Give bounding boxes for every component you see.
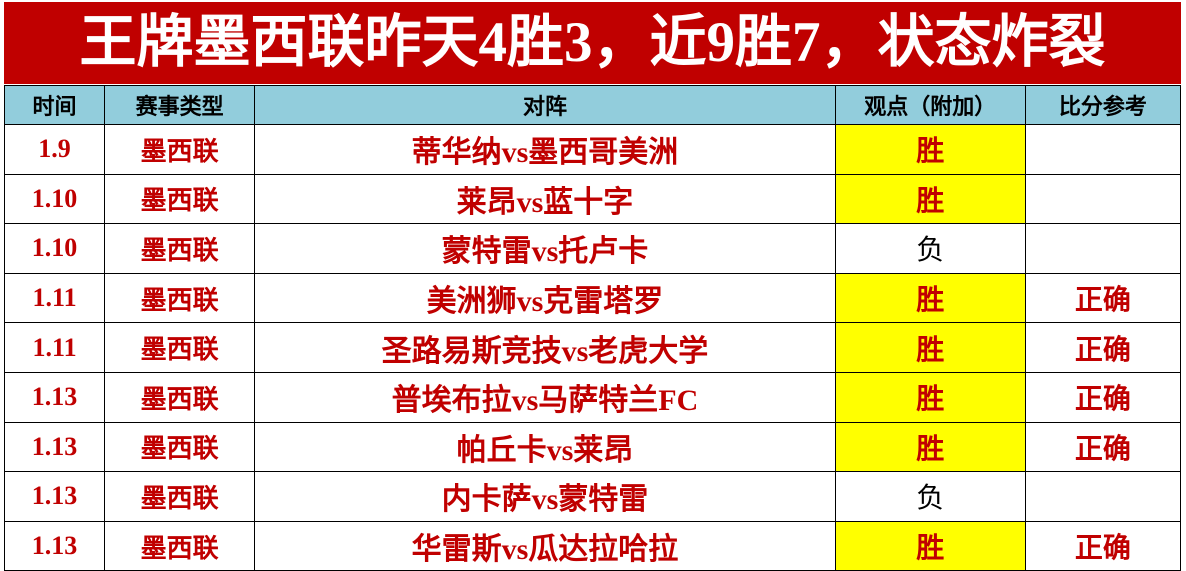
- cell-match: 帕丘卡vs莱昂: [255, 422, 835, 472]
- table-row: 1.10墨西联莱昂vs蓝十字胜: [5, 174, 1181, 224]
- column-header-view: 观点（附加）: [835, 86, 1025, 125]
- column-header-time: 时间: [5, 86, 105, 125]
- cell-league: 墨西联: [105, 472, 255, 522]
- column-header-score: 比分参考: [1025, 86, 1180, 125]
- cell-view: 胜: [835, 521, 1025, 571]
- cell-score: [1025, 224, 1180, 274]
- cell-view: 胜: [835, 125, 1025, 175]
- cell-time: 1.11: [5, 323, 105, 373]
- cell-league: 墨西联: [105, 174, 255, 224]
- cell-time: 1.13: [5, 422, 105, 472]
- table-row: 1.13墨西联帕丘卡vs莱昂胜正确: [5, 422, 1181, 472]
- cell-view: 胜: [835, 273, 1025, 323]
- cell-score: 正确: [1025, 323, 1180, 373]
- predictions-table: 时间 赛事类型 对阵 观点（附加） 比分参考 1.9墨西联蒂华纳vs墨西哥美洲胜…: [4, 85, 1181, 571]
- cell-view: 负: [835, 472, 1025, 522]
- table-row: 1.11墨西联圣路易斯竞技vs老虎大学胜正确: [5, 323, 1181, 373]
- cell-league: 墨西联: [105, 224, 255, 274]
- cell-match: 蒙特雷vs托卢卡: [255, 224, 835, 274]
- cell-match: 美洲狮vs克雷塔罗: [255, 273, 835, 323]
- cell-view: 胜: [835, 372, 1025, 422]
- cell-match: 莱昂vs蓝十字: [255, 174, 835, 224]
- cell-league: 墨西联: [105, 125, 255, 175]
- cell-time: 1.13: [5, 372, 105, 422]
- cell-match: 普埃布拉vs马萨特兰FC: [255, 372, 835, 422]
- cell-match: 蒂华纳vs墨西哥美洲: [255, 125, 835, 175]
- header-row: 时间 赛事类型 对阵 观点（附加） 比分参考: [5, 86, 1181, 125]
- column-header-match: 对阵: [255, 86, 835, 125]
- cell-view: 负: [835, 224, 1025, 274]
- table-row: 1.13墨西联内卡萨vs蒙特雷负: [5, 472, 1181, 522]
- page-root: 王牌墨西联昨天4胜3，近9胜7，状态炸裂 时间 赛事类型 对阵 观点（附加） 比…: [0, 0, 1186, 562]
- cell-time: 1.11: [5, 273, 105, 323]
- cell-league: 墨西联: [105, 372, 255, 422]
- table-row: 1.9墨西联蒂华纳vs墨西哥美洲胜: [5, 125, 1181, 175]
- cell-league: 墨西联: [105, 521, 255, 571]
- cell-time: 1.13: [5, 472, 105, 522]
- cell-score: [1025, 125, 1180, 175]
- column-header-league: 赛事类型: [105, 86, 255, 125]
- banner-title: 王牌墨西联昨天4胜3，近9胜7，状态炸裂: [80, 14, 1106, 71]
- table-row: 1.11墨西联美洲狮vs克雷塔罗胜正确: [5, 273, 1181, 323]
- table-body: 1.9墨西联蒂华纳vs墨西哥美洲胜1.10墨西联莱昂vs蓝十字胜1.10墨西联蒙…: [5, 125, 1181, 571]
- cell-time: 1.9: [5, 125, 105, 175]
- headline-banner: 王牌墨西联昨天4胜3，近9胜7，状态炸裂: [4, 2, 1181, 84]
- cell-time: 1.10: [5, 224, 105, 274]
- cell-view: 胜: [835, 323, 1025, 373]
- cell-score: 正确: [1025, 521, 1180, 571]
- cell-score: 正确: [1025, 422, 1180, 472]
- table-row: 1.13墨西联普埃布拉vs马萨特兰FC胜正确: [5, 372, 1181, 422]
- cell-league: 墨西联: [105, 323, 255, 373]
- cell-score: [1025, 472, 1180, 522]
- cell-time: 1.10: [5, 174, 105, 224]
- cell-match: 圣路易斯竞技vs老虎大学: [255, 323, 835, 373]
- cell-match: 华雷斯vs瓜达拉哈拉: [255, 521, 835, 571]
- cell-league: 墨西联: [105, 422, 255, 472]
- cell-view: 胜: [835, 422, 1025, 472]
- table-header: 时间 赛事类型 对阵 观点（附加） 比分参考: [5, 86, 1181, 125]
- cell-score: 正确: [1025, 372, 1180, 422]
- table-row: 1.13墨西联华雷斯vs瓜达拉哈拉胜正确: [5, 521, 1181, 571]
- cell-time: 1.13: [5, 521, 105, 571]
- cell-score: [1025, 174, 1180, 224]
- cell-view: 胜: [835, 174, 1025, 224]
- cell-match: 内卡萨vs蒙特雷: [255, 472, 835, 522]
- cell-score: 正确: [1025, 273, 1180, 323]
- cell-league: 墨西联: [105, 273, 255, 323]
- table-row: 1.10墨西联蒙特雷vs托卢卡负: [5, 224, 1181, 274]
